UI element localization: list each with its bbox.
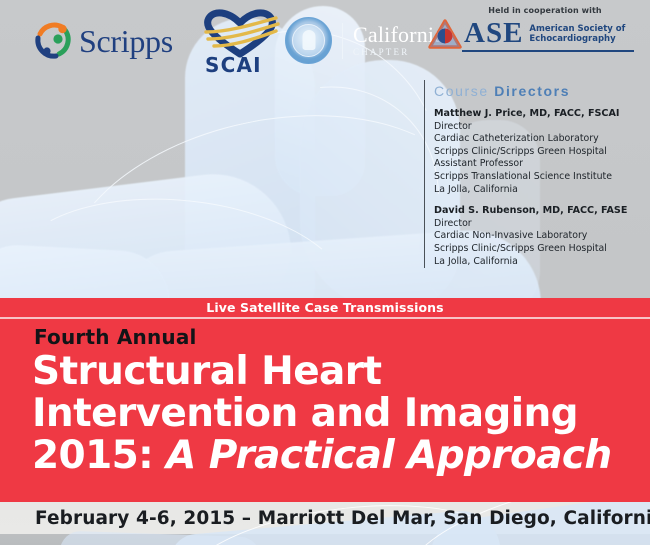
director-detail: Assistant Professor — [434, 158, 640, 171]
conference-brochure-cover: Scripps SCAI California — [0, 0, 650, 545]
event-date-location: February 4-6, 2015 – Marriott Del Mar, S… — [35, 508, 650, 529]
director-detail: Scripps Clinic/Scripps Green Hospital — [434, 243, 640, 256]
director-detail: La Jolla, California — [434, 256, 640, 269]
course-directors-heading: Course Directors — [434, 83, 640, 99]
scai-wordmark: SCAI — [205, 53, 262, 77]
page-title: Structural Heart Intervention and Imagin… — [32, 351, 632, 477]
ase-underline — [462, 50, 634, 52]
acc-seal-icon — [285, 17, 332, 64]
ase-fullname-line2: Echocardiography — [529, 35, 625, 45]
ase-triangle-icon — [428, 19, 462, 49]
sponsor-logo-row: Scripps SCAI California — [0, 0, 650, 75]
course-director-entry: Matthew J. Price, MD, FACC, FSCAI Direct… — [434, 108, 640, 196]
live-transmissions-strip: Live Satellite Case Transmissions — [0, 298, 650, 317]
scripps-wordmark: Scripps — [79, 25, 173, 57]
event-details-bar: February 4-6, 2015 – Marriott Del Mar, S… — [0, 502, 650, 535]
title-italic-text: A Practical Approach — [166, 433, 611, 478]
scai-logo: SCAI — [190, 6, 290, 76]
director-detail: Director — [434, 121, 640, 134]
scripps-swoosh-icon — [32, 20, 74, 62]
ase-acronym: ASE — [464, 20, 523, 48]
director-detail: Cardiac Catheterization Laboratory — [434, 133, 640, 146]
red-title-banner: Live Satellite Case Transmissions Fourth… — [0, 298, 650, 502]
director-detail: Scripps Translational Science Institute — [434, 171, 640, 184]
course-directors-divider — [424, 80, 425, 268]
course-directors-panel: Course Directors Matthew J. Price, MD, F… — [434, 83, 640, 277]
california-chapter-logo: California CHAPTER — [285, 17, 444, 64]
live-transmissions-label: Live Satellite Case Transmissions — [206, 300, 443, 315]
acc-seal-figure — [302, 30, 315, 50]
director-detail: Cardiac Non-Invasive Laboratory — [434, 230, 640, 243]
banner-rule — [0, 317, 650, 319]
event-eyebrow: Fourth Annual — [34, 325, 197, 349]
director-detail: Scripps Clinic/Scripps Green Hospital — [434, 146, 640, 159]
heading-word-directors: Directors — [494, 83, 570, 99]
course-director-entry: David S. Rubenson, MD, FACC, FASE Direct… — [434, 205, 640, 268]
director-detail: La Jolla, California — [434, 184, 640, 197]
logo-divider — [342, 23, 343, 59]
director-name: David S. Rubenson, MD, FACC, FASE — [434, 205, 640, 218]
held-in-cooperation-label: Held in cooperation with — [454, 6, 636, 15]
ase-logo-block: Held in cooperation with ASE American So… — [428, 6, 638, 52]
director-detail: Director — [434, 218, 640, 231]
scripps-logo: Scripps — [32, 20, 173, 62]
director-name: Matthew J. Price, MD, FACC, FSCAI — [434, 108, 640, 121]
heading-word-course: Course — [434, 83, 489, 99]
